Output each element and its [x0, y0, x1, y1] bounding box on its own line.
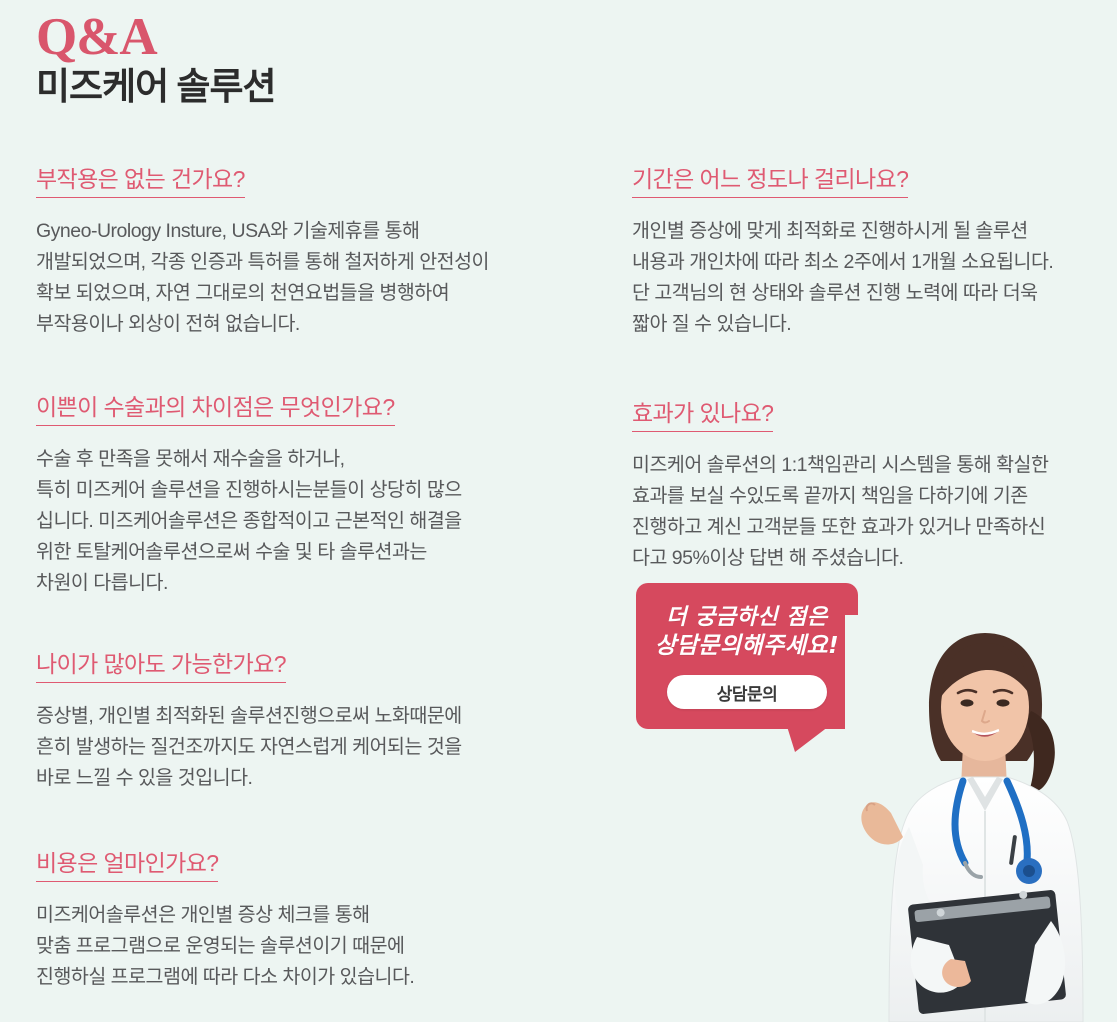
- faq-item: 나이가 많아도 가능한가요? 증상별, 개인별 최적화된 솔루션진행으로써 노화…: [36, 649, 506, 794]
- faq-answer: 개인별 증상에 맞게 최적화로 진행하시게 될 솔루션 내용과 개인차에 따라 …: [632, 216, 1102, 340]
- faq-question[interactable]: 효과가 있나요?: [632, 398, 773, 432]
- faq-item: 비용은 얼마인가요? 미즈케어솔루션은 개인별 증상 체크를 통해 맞춤 프로그…: [36, 848, 506, 993]
- faq-item: 부작용은 없는 건가요? Gyneo-Urology Insture, USA와…: [36, 164, 506, 340]
- faq-item: 효과가 있나요? 미즈케어 솔루션의 1:1책임관리 시스템을 통해 확실한 효…: [632, 398, 1102, 574]
- faq-item: 기간은 어느 정도나 걸리나요? 개인별 증상에 맞게 최적화로 진행하시게 될…: [632, 164, 1102, 340]
- faq-question[interactable]: 이쁜이 수술과의 차이점은 무엇인가요?: [36, 392, 395, 426]
- faq-question[interactable]: 나이가 많아도 가능한가요?: [36, 649, 286, 683]
- consultation-bubble: 더 궁금하신 점은 상담문의해주세요! 상담문의: [636, 583, 858, 729]
- faq-question[interactable]: 기간은 어느 정도나 걸리나요?: [632, 164, 908, 198]
- faq-column-left: 부작용은 없는 건가요? Gyneo-Urology Insture, USA와…: [36, 164, 506, 993]
- qa-page: Q&A 미즈케어 솔루션 부작용은 없는 건가요? Gyneo-Urology …: [0, 0, 1117, 1022]
- faq-question[interactable]: 비용은 얼마인가요?: [36, 848, 218, 882]
- consultation-button[interactable]: 상담문의: [667, 675, 827, 709]
- faq-answer: 증상별, 개인별 최적화된 솔루션진행으로써 노화때문에 흔히 발생하는 질건조…: [36, 701, 506, 794]
- doctor-illustration: [845, 615, 1117, 1022]
- page-header: Q&A 미즈케어 솔루션: [36, 8, 276, 110]
- page-subtitle: 미즈케어 솔루션: [36, 66, 276, 110]
- bubble-headline-line1: 더 궁금하신 점은: [636, 603, 858, 632]
- faq-answer: 미즈케어솔루션은 개인별 증상 체크를 통해 맞춤 프로그램으로 운영되는 솔루…: [36, 900, 506, 993]
- faq-column-right: 기간은 어느 정도나 걸리나요? 개인별 증상에 맞게 최적화로 진행하시게 될…: [632, 164, 1102, 574]
- faq-answer: 미즈케어 솔루션의 1:1책임관리 시스템을 통해 확실한 효과를 보실 수있도…: [632, 450, 1102, 574]
- bubble-tail-icon: [785, 720, 837, 752]
- page-title: Q&A: [36, 8, 276, 66]
- faq-question[interactable]: 부작용은 없는 건가요?: [36, 164, 245, 198]
- faq-answer: 수술 후 만족을 못해서 재수술을 하거나, 특히 미즈케어 솔루션을 진행하시…: [36, 444, 506, 599]
- bubble-headline-line2: 상담문의해주세요!: [636, 632, 858, 661]
- doctor-photo: [845, 615, 1117, 1022]
- faq-item: 이쁜이 수술과의 차이점은 무엇인가요? 수술 후 만족을 못해서 재수술을 하…: [36, 392, 506, 599]
- faq-answer: Gyneo-Urology Insture, USA와 기술제휴를 통해 개발되…: [36, 216, 506, 340]
